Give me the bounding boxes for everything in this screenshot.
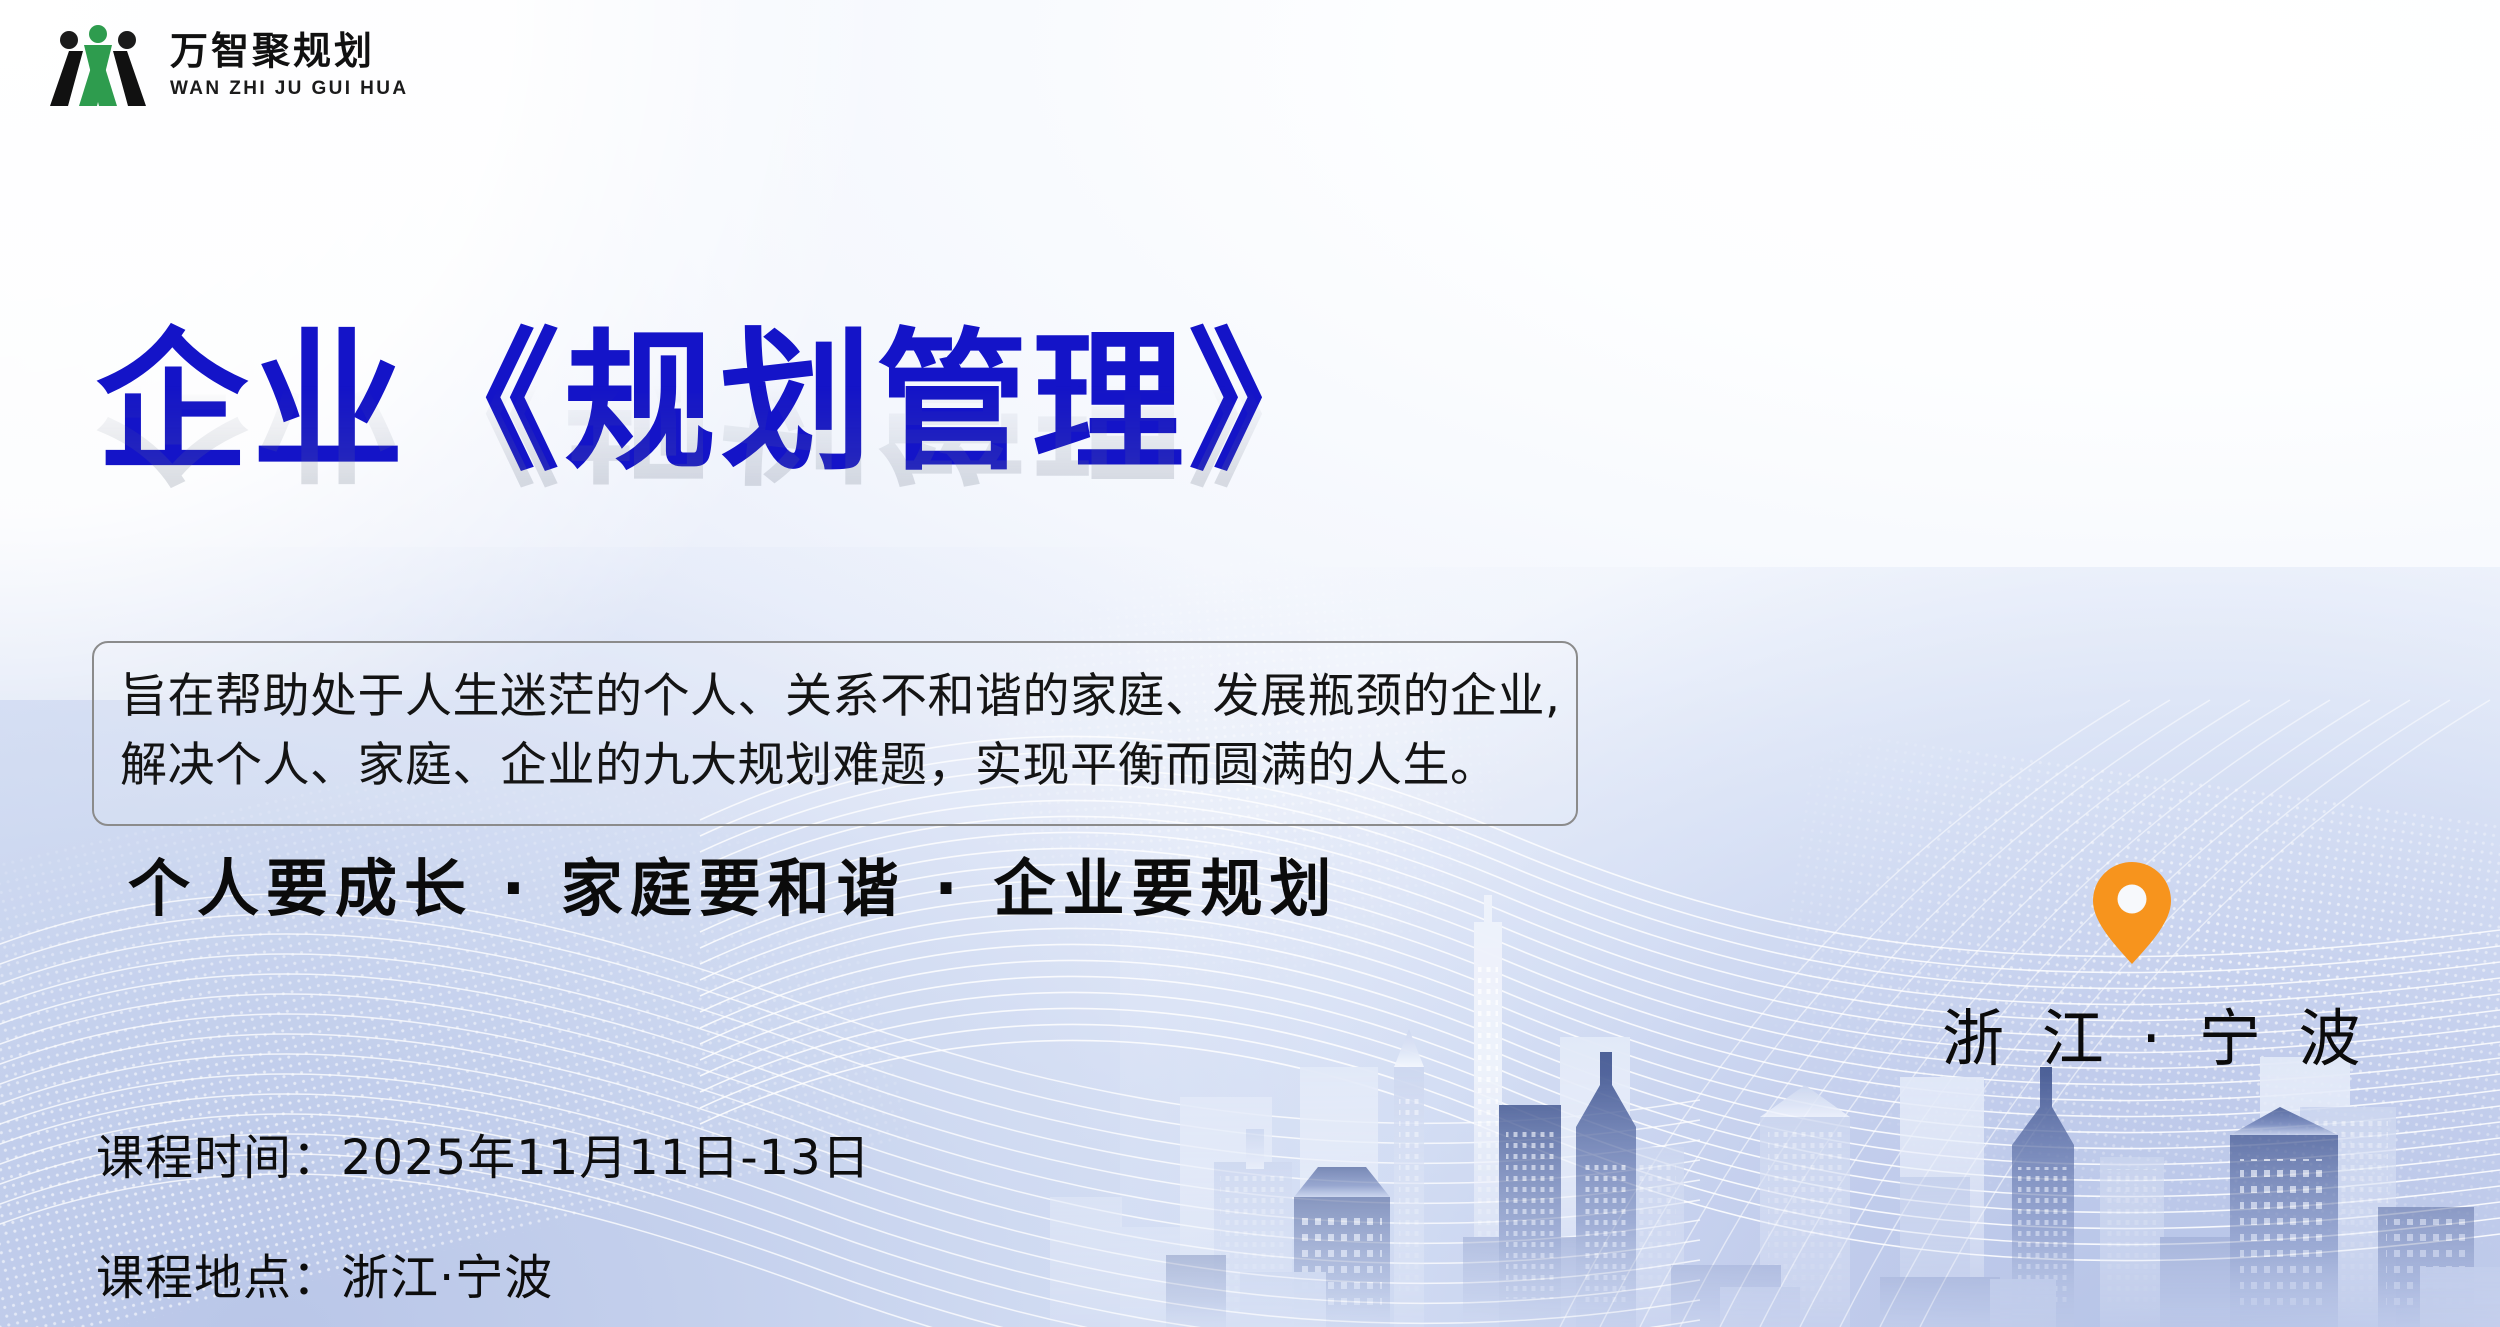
description-line-1: 旨在帮助处于人生迷茫的个人、关系不和谐的家庭、发展瓶颈的企业,: [120, 663, 1550, 732]
location-label: 浙 江 · 宁 波: [1942, 988, 2322, 1078]
brand-logo: 万智聚规划 WAN ZHI JU GUI HUA: [42, 22, 408, 108]
description-line-2: 解决个人、家庭、企业的九大规划难题，实现平衡而圆满的人生。: [120, 732, 1550, 801]
promo-banner: 万智聚规划 WAN ZHI JU GUI HUA 企业《规划管理》 企业《规划管…: [0, 0, 2500, 1327]
location-block: 浙 江 · 宁 波: [1942, 860, 2322, 1078]
hero-title-block: 企业《规划管理》 企业《规划管理》: [96, 322, 1656, 607]
page-title-reflection: 企业《规划管理》: [96, 371, 1656, 489]
course-time: 课程时间：2025年11月11日-13日: [96, 1118, 871, 1188]
tagline: 个人要成长 · 家庭要和谐 · 企业要规划: [128, 838, 1338, 928]
brand-name-en: WAN ZHI JU GUI HUA: [170, 79, 408, 98]
three-people-logo-icon: [42, 22, 154, 108]
course-place: 课程地点：浙江·宁波: [96, 1238, 871, 1308]
map-pin-icon: [2090, 860, 2174, 966]
course-info-block: 课程时间：2025年11月11日-13日 课程地点：浙江·宁波: [96, 1118, 871, 1308]
description-box: 旨在帮助处于人生迷茫的个人、关系不和谐的家庭、发展瓶颈的企业, 解决个人、家庭、…: [92, 641, 1578, 826]
brand-name-cn: 万智聚规划: [170, 32, 408, 70]
